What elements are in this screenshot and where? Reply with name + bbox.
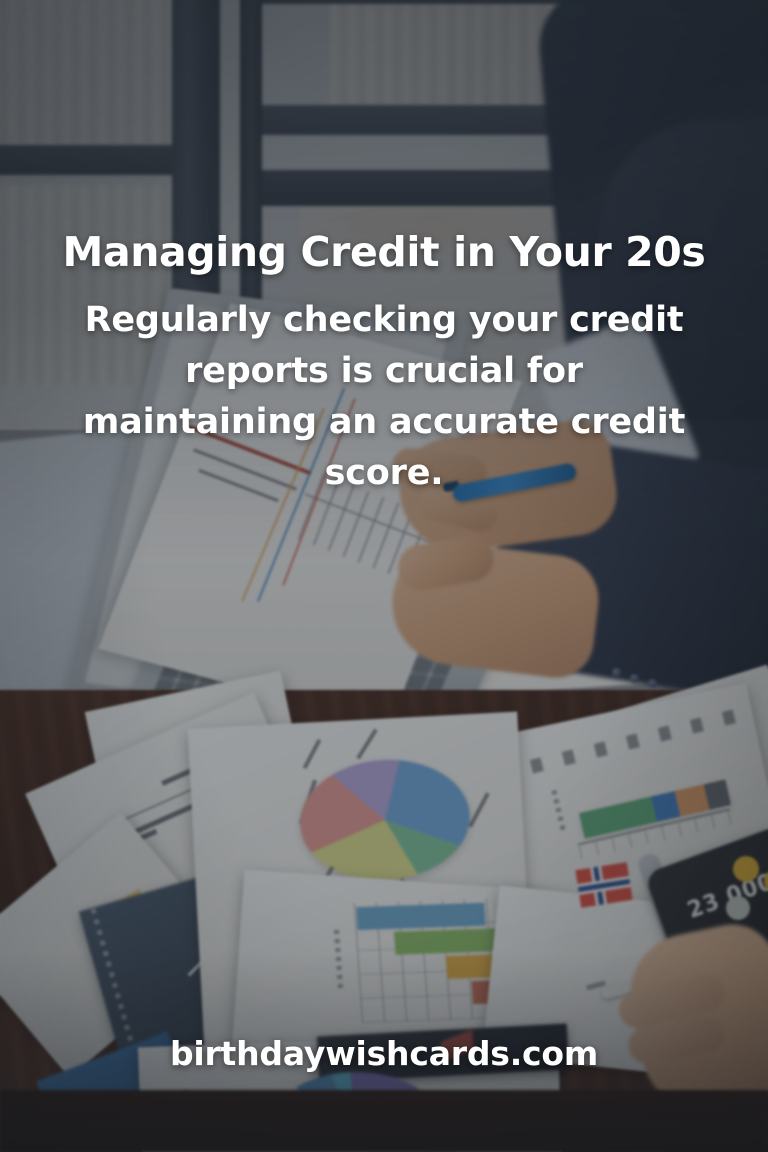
footer-website-url: birthdaywishcards.com [0, 1034, 768, 1073]
pin-subtitle: Regularly checking your credit reports i… [72, 295, 696, 499]
page-title: Managing Credit in Your 20s [0, 230, 768, 274]
pin-graphic: 23 000 Managing Credit in Your 20s Regul… [0, 0, 768, 1152]
text-layer: Managing Credit in Your 20s Regularly ch… [0, 0, 768, 1152]
